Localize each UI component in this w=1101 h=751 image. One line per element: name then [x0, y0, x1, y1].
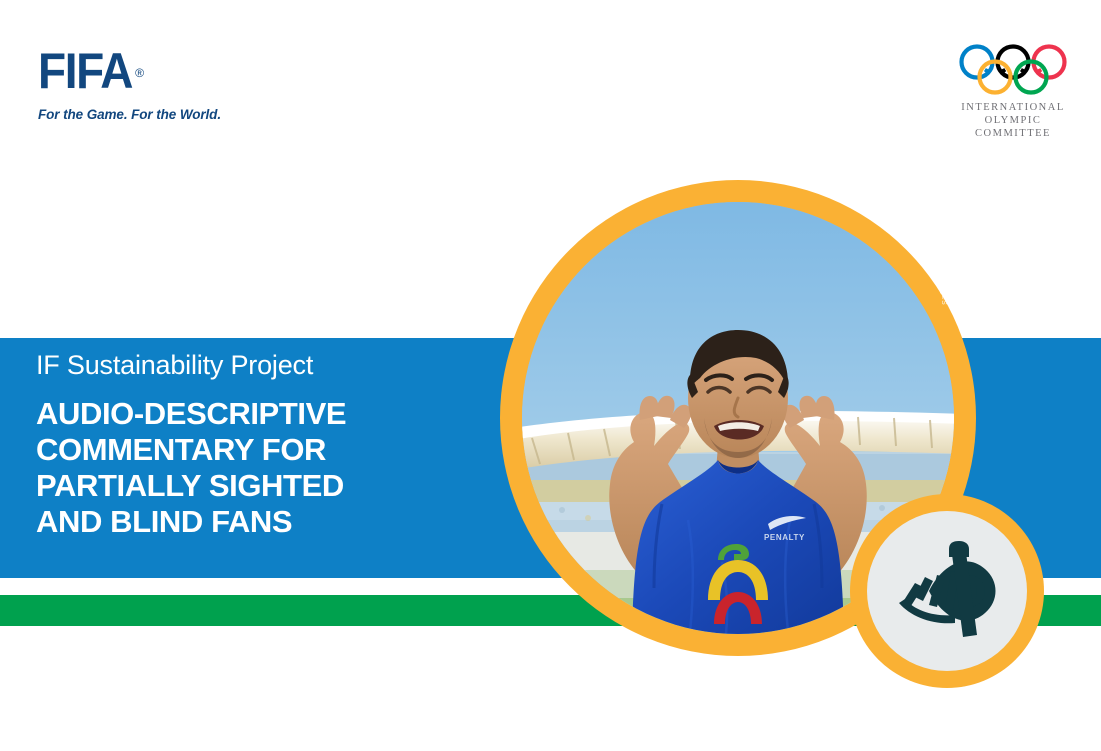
low-vision-blind-icon	[885, 539, 1009, 643]
accessibility-badge	[850, 494, 1044, 688]
registered-trademark-icon: ®	[136, 48, 145, 98]
svg-text:PENALTY: PENALTY	[764, 533, 805, 542]
cover-page: FIFA® For the Game. For the World. IN	[0, 0, 1101, 751]
page-title-line-3: PARTIALLY SIGHTED	[36, 468, 506, 504]
ioc-name: INTERNATIONAL OLYMPIC COMMITTEE	[953, 101, 1073, 140]
fifa-wordmark: FIFA®	[38, 46, 132, 96]
olympic-rings-icon	[957, 44, 1069, 96]
svg-text:URECE: URECE	[716, 633, 761, 634]
banner-text-block: IF Sustainability Project AUDIO-DESCRIPT…	[36, 348, 506, 540]
photo-credit: © FIFA / Getty Images	[940, 210, 950, 305]
project-eyebrow: IF Sustainability Project	[36, 348, 506, 382]
page-title-line-2: COMMENTARY FOR	[36, 432, 506, 468]
accessibility-badge-disc	[867, 511, 1027, 671]
ioc-logo: INTERNATIONAL OLYMPIC COMMITTEE	[953, 44, 1073, 140]
fifa-tagline: For the Game. For the World.	[38, 107, 268, 122]
fifa-logo: FIFA® For the Game. For the World.	[38, 46, 268, 122]
page-header: FIFA® For the Game. For the World. IN	[0, 0, 1101, 180]
ioc-name-line-3: COMMITTEE	[953, 127, 1073, 140]
page-title-line-4: AND BLIND FANS	[36, 504, 506, 540]
page-title-line-1: AUDIO-DESCRIPTIVE	[36, 396, 506, 432]
ioc-name-line-1: INTERNATIONAL	[953, 101, 1073, 114]
ioc-name-line-2: OLYMPIC	[953, 114, 1073, 127]
page-title: AUDIO-DESCRIPTIVE COMMENTARY FOR PARTIAL…	[36, 396, 506, 540]
fifa-wordmark-text: FIFA	[38, 43, 132, 99]
